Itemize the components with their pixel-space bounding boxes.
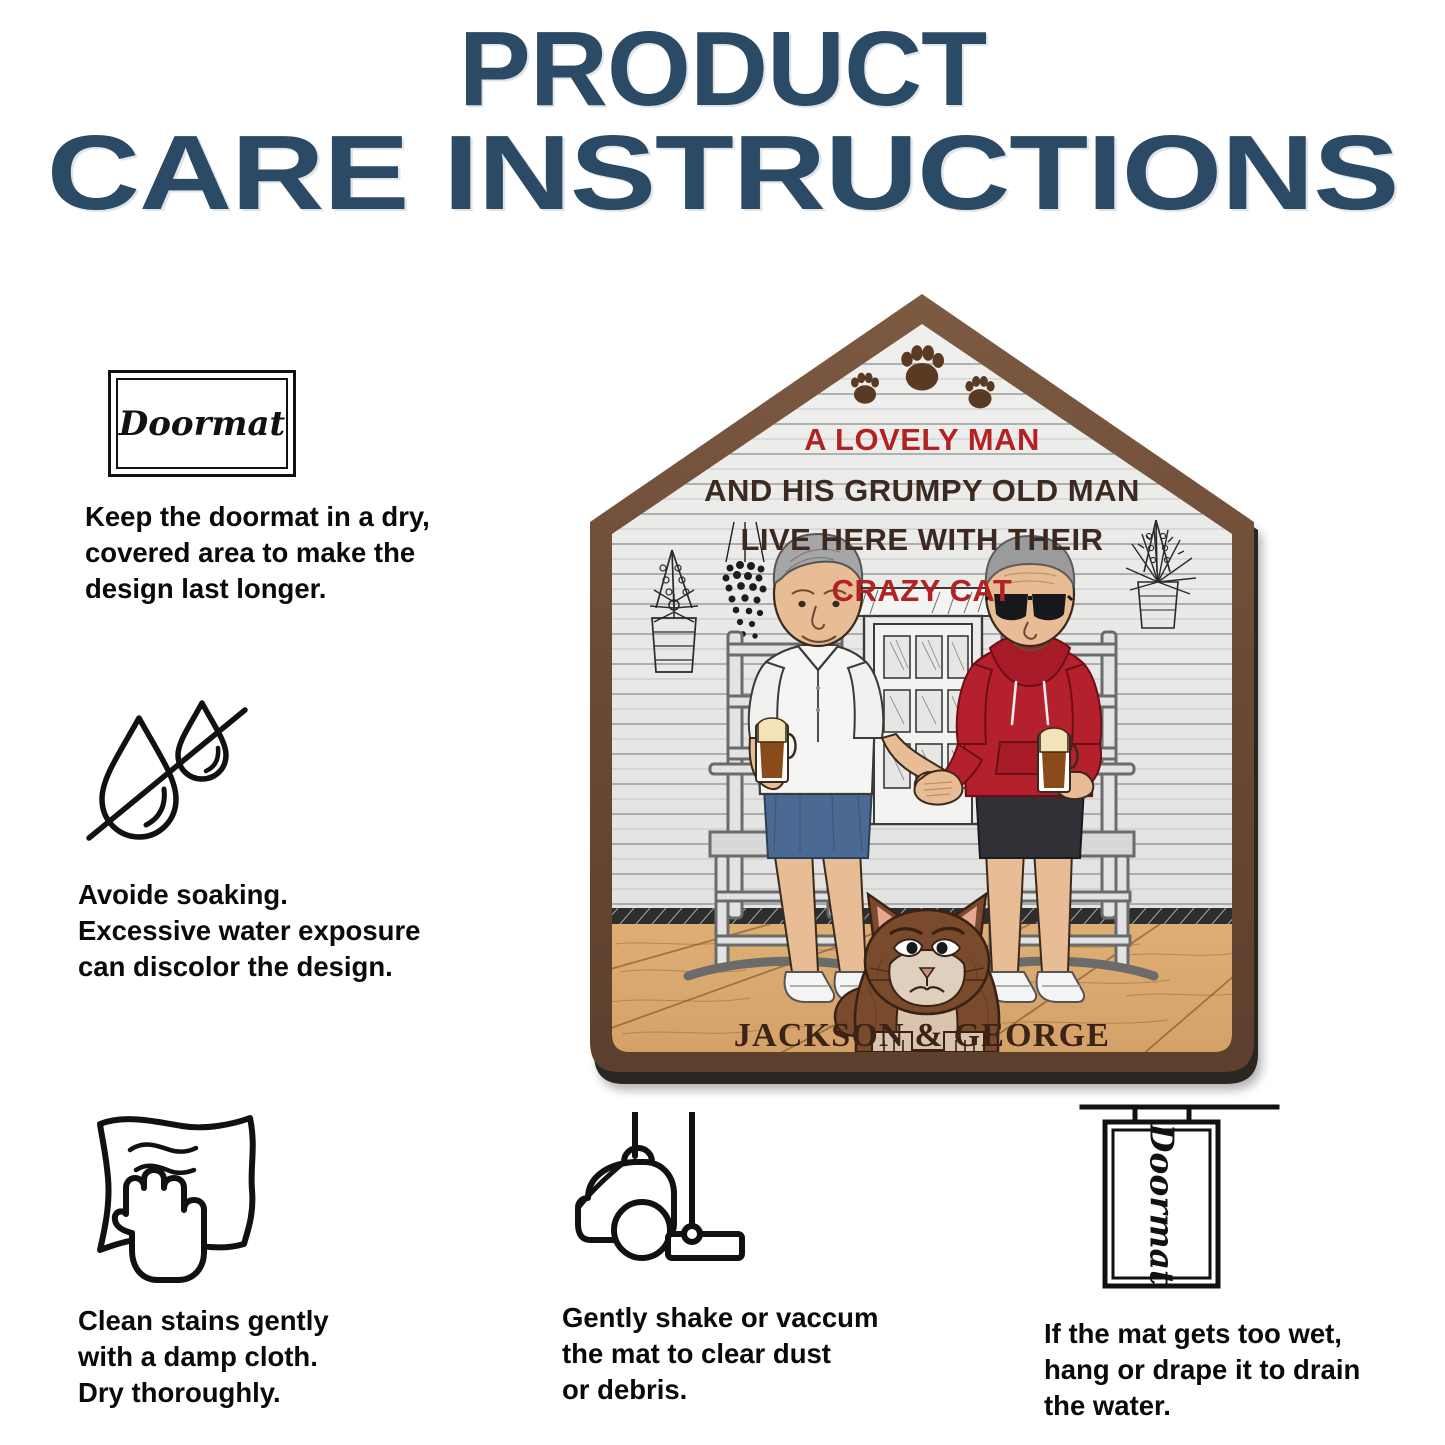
- sign-line-2: AND HIS GRUMPY OLD MAN: [704, 473, 1140, 508]
- cloth-hand-wipe-icon: [78, 1112, 478, 1287]
- care-item-vacuum-text: Gently shake or vaccum the mat to clear …: [562, 1300, 952, 1407]
- sign-line-4: CRAZY CAT: [832, 573, 1013, 608]
- no-water-drops-icon: [78, 690, 478, 855]
- page-title: PRODUCT CARE INSTRUCTIONS: [0, 18, 1445, 226]
- sign-line-1: A LOVELY MAN: [804, 422, 1040, 457]
- care-item-avoid-soaking-text: Avoide soaking. Excessive water exposure…: [78, 877, 478, 984]
- care-item-clean-stains-text: Clean stains gently with a damp cloth. D…: [78, 1303, 478, 1410]
- care-item-hang-to-dry: Doormat If the mat gets too wet, hang or…: [1032, 1100, 1432, 1423]
- house-sign-illustration: A LOVELY MAN AND HIS GRUMPY OLD MAN LIVE…: [560, 272, 1285, 1102]
- hanging-doormat-icon-label: Doormat: [1142, 1123, 1181, 1285]
- title-line-1: PRODUCT: [0, 18, 1445, 122]
- doormat-icon: Doormat: [78, 370, 478, 477]
- care-item-clean-stains: Clean stains gently with a damp cloth. D…: [78, 1112, 478, 1410]
- name-plate: JACKSON & GEORGE: [734, 1017, 1110, 1054]
- title-line-2: CARE INSTRUCTIONS: [0, 122, 1445, 226]
- vacuum-cleaner-icon: [552, 1112, 952, 1284]
- hanging-doormat-icon: Doormat: [1077, 1100, 1307, 1300]
- care-item-keep-dry: Doormat Keep the doormat in a dry, cover…: [78, 370, 478, 606]
- doormat-icon-label: Doormat: [111, 404, 293, 444]
- care-item-vacuum: Gently shake or vaccum the mat to clear …: [552, 1112, 952, 1407]
- product-image: A LOVELY MAN AND HIS GRUMPY OLD MAN LIVE…: [560, 272, 1285, 1102]
- sign-line-3: LIVE HERE WITH THEIR: [740, 522, 1103, 557]
- care-item-keep-dry-text: Keep the doormat in a dry, covered area …: [85, 499, 478, 606]
- care-item-avoid-soaking: Avoide soaking. Excessive water exposure…: [78, 690, 478, 984]
- care-item-hang-to-dry-text: If the mat gets too wet, hang or drape i…: [1044, 1316, 1432, 1423]
